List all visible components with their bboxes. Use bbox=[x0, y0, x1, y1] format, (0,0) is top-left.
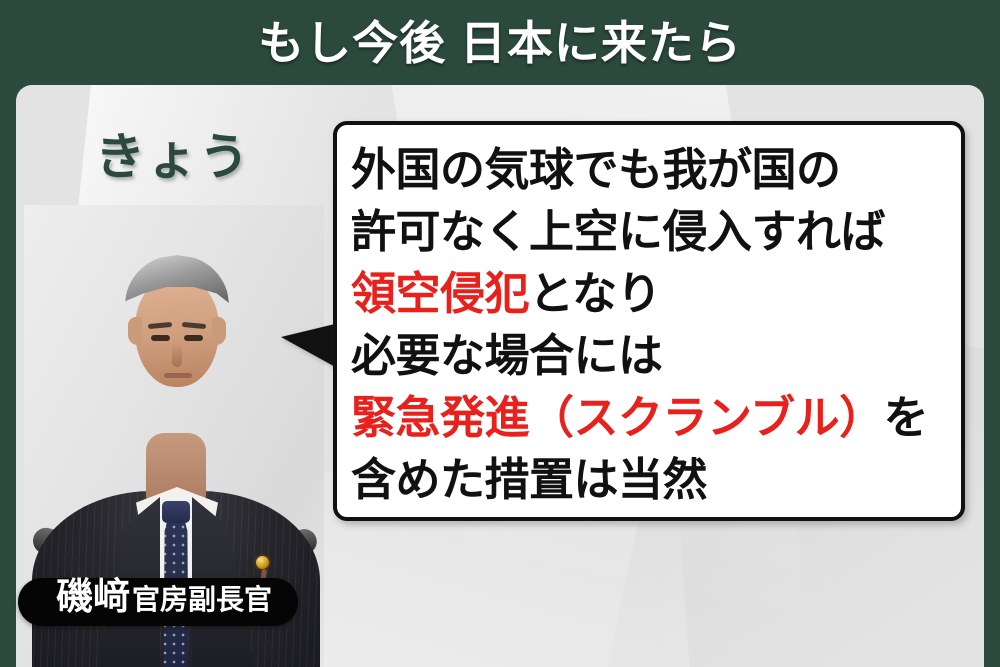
timing-label: きょう bbox=[95, 132, 251, 182]
speaker-name-badge: 磯﨑 官房副長官 bbox=[18, 578, 298, 626]
quote-segment: 外国の気球でも我が国の bbox=[351, 144, 841, 195]
speech-bubble: 外国の気球でも我が国の許可なく上空に侵入すれば領空侵犯となり必要な場合には緊急発… bbox=[333, 121, 965, 521]
mouth bbox=[164, 373, 192, 378]
quote-highlight: 緊急発進（スクランブル） bbox=[351, 392, 884, 443]
quote-line: 許可なく上空に侵入すれば bbox=[351, 201, 951, 263]
quote-line: 含めた措置は当然 bbox=[351, 449, 951, 511]
quote-line: 領空侵犯となり bbox=[351, 263, 951, 325]
quote-text: 外国の気球でも我が国の許可なく上空に侵入すれば領空侵犯となり必要な場合には緊急発… bbox=[351, 139, 951, 511]
quote-segment: 含めた措置は当然 bbox=[351, 454, 707, 505]
quote-highlight: 領空侵犯 bbox=[351, 268, 529, 319]
quote-segment: を bbox=[884, 392, 929, 443]
title-bar: もし今後 日本に来たら bbox=[0, 0, 1000, 86]
speaker-title: 官房副長官 bbox=[132, 586, 272, 614]
eye-right bbox=[184, 335, 203, 341]
quote-segment: 必要な場合には bbox=[351, 330, 663, 381]
quote-line: 外国の気球でも我が国の bbox=[351, 139, 951, 201]
quote-segment: 許可なく上空に侵入すれば bbox=[351, 206, 885, 257]
ear-right bbox=[212, 317, 226, 345]
necktie-knot bbox=[162, 501, 190, 523]
diet-member-badge-icon bbox=[256, 556, 269, 569]
quote-segment: となり bbox=[529, 268, 661, 319]
ear-left bbox=[128, 317, 142, 345]
speaker-name: 磯﨑 bbox=[56, 578, 130, 615]
nose bbox=[172, 343, 182, 367]
quote-line: 必要な場合には bbox=[351, 325, 951, 387]
broadcast-graphic: もし今後 日本に来たら きょう bbox=[0, 0, 1000, 667]
eye-left bbox=[151, 335, 170, 341]
speech-bubble-tail bbox=[281, 323, 339, 369]
quote-line: 緊急発進（スクランブル）を bbox=[351, 387, 951, 449]
page-title: もし今後 日本に来たら bbox=[258, 20, 742, 66]
